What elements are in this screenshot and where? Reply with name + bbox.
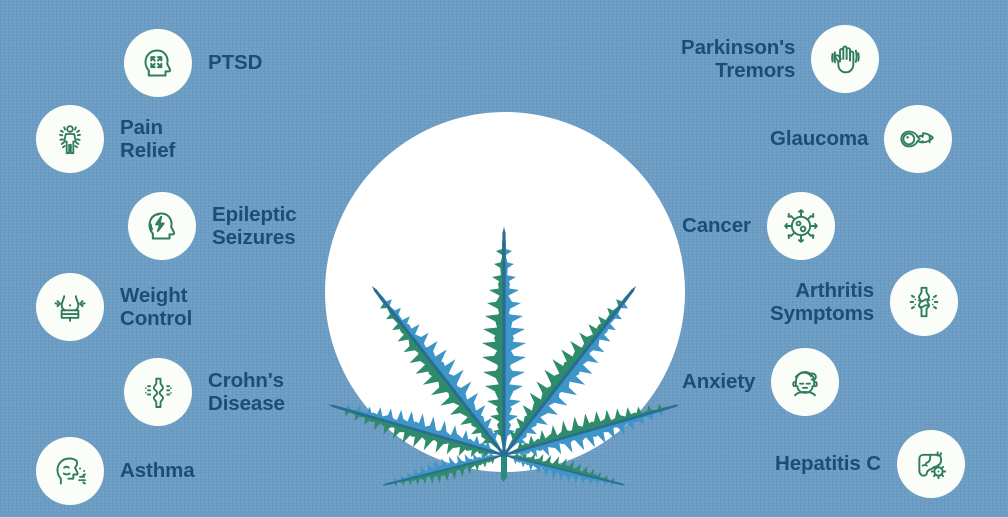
condition-cancer[interactable]: Cancer	[682, 192, 835, 260]
condition-label: Weight Control	[120, 284, 192, 330]
condition-label: Anxiety	[682, 370, 755, 393]
condition-parkinsons-tremors[interactable]: Parkinson's Tremors	[681, 25, 879, 93]
head-arrows-icon	[124, 29, 192, 97]
condition-ptsd[interactable]: PTSD	[124, 29, 262, 97]
trembling-hand-icon	[811, 25, 879, 93]
condition-hepatitis-c[interactable]: Hepatitis C	[775, 430, 965, 498]
condition-crohns-disease[interactable]: Crohn's Disease	[124, 358, 285, 426]
condition-label: Hepatitis C	[775, 452, 881, 475]
eye-optic-icon	[884, 105, 952, 173]
condition-epileptic-seizures[interactable]: Epileptic Seizures	[128, 192, 297, 260]
waist-tape-icon	[36, 273, 104, 341]
knee-joint-icon	[890, 268, 958, 336]
anxious-face-icon	[771, 348, 839, 416]
infographic-canvas: PTSD Pain Relief Epileptic Seizures	[0, 0, 1008, 517]
cough-head-icon	[36, 437, 104, 505]
condition-label: Arthritis Symptoms	[770, 279, 874, 325]
condition-label: Epileptic Seizures	[212, 203, 297, 249]
body-pain-icon	[36, 105, 104, 173]
condition-pain-relief[interactable]: Pain Relief	[36, 105, 175, 173]
leaf-stem	[501, 455, 507, 482]
condition-label: Parkinson's Tremors	[681, 36, 795, 82]
condition-label: Glaucoma	[770, 127, 868, 150]
condition-glaucoma[interactable]: Glaucoma	[770, 105, 952, 173]
liver-virus-icon	[897, 430, 965, 498]
head-lightning-icon	[128, 192, 196, 260]
condition-label: PTSD	[208, 51, 262, 74]
condition-label: Pain Relief	[120, 116, 175, 162]
condition-arthritis-symptoms[interactable]: Arthritis Symptoms	[770, 268, 958, 336]
condition-label: Crohn's Disease	[208, 369, 285, 415]
condition-label: Asthma	[120, 459, 195, 482]
intestine-icon	[124, 358, 192, 426]
condition-label: Cancer	[682, 214, 751, 237]
condition-anxiety[interactable]: Anxiety	[682, 348, 839, 416]
cancer-cell-icon	[767, 192, 835, 260]
condition-asthma[interactable]: Asthma	[36, 437, 195, 505]
condition-weight-control[interactable]: Weight Control	[36, 273, 192, 341]
